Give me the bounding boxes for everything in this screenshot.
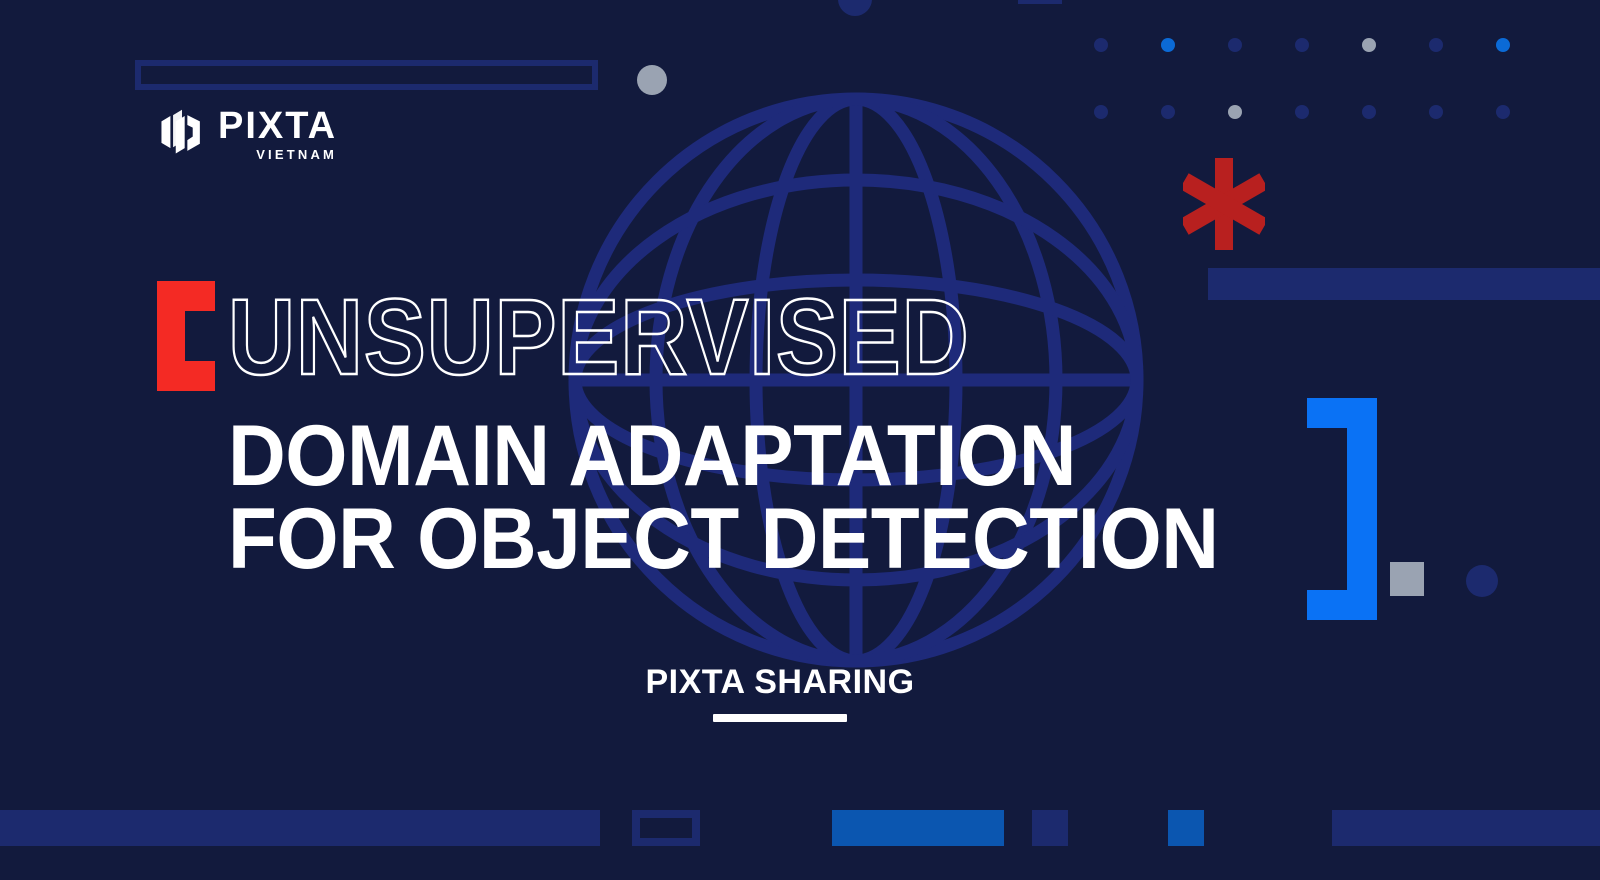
gray-circle-top [637,65,667,95]
top-outline-bar [135,60,598,90]
subtitle-text: PIXTA SHARING [0,663,1560,702]
presentation-slide: PIXTA VIETNAM UNSUPERVISED DOMAIN ADAPTA… [0,0,1600,880]
dot [1362,38,1376,52]
subtitle-block: PIXTA SHARING [0,663,1560,722]
logo-wordmark: PIXTA [218,108,337,144]
pixta-logo: PIXTA VIETNAM [156,108,337,162]
dot [1161,105,1175,119]
subtitle-underline [713,714,847,722]
dot [1094,38,1108,52]
right-navy-bar [1208,268,1600,300]
dot [1295,105,1309,119]
dot [1496,105,1510,119]
globe-wireframe [568,92,1144,668]
dot [1429,38,1443,52]
dot [1496,38,1510,52]
dot [1228,38,1242,52]
navy-circle-right [1466,565,1498,597]
pixta-hexagon-mark-icon [156,108,208,158]
dot [1161,38,1175,52]
asterisk-icon [1183,158,1265,250]
gray-square-right [1390,562,1424,596]
dot [1362,105,1376,119]
dot [1429,105,1443,119]
dot [1295,38,1309,52]
logo-sub-wordmark: VIETNAM [256,147,337,162]
dot [1228,105,1242,119]
navy-square-top [1018,0,1062,4]
